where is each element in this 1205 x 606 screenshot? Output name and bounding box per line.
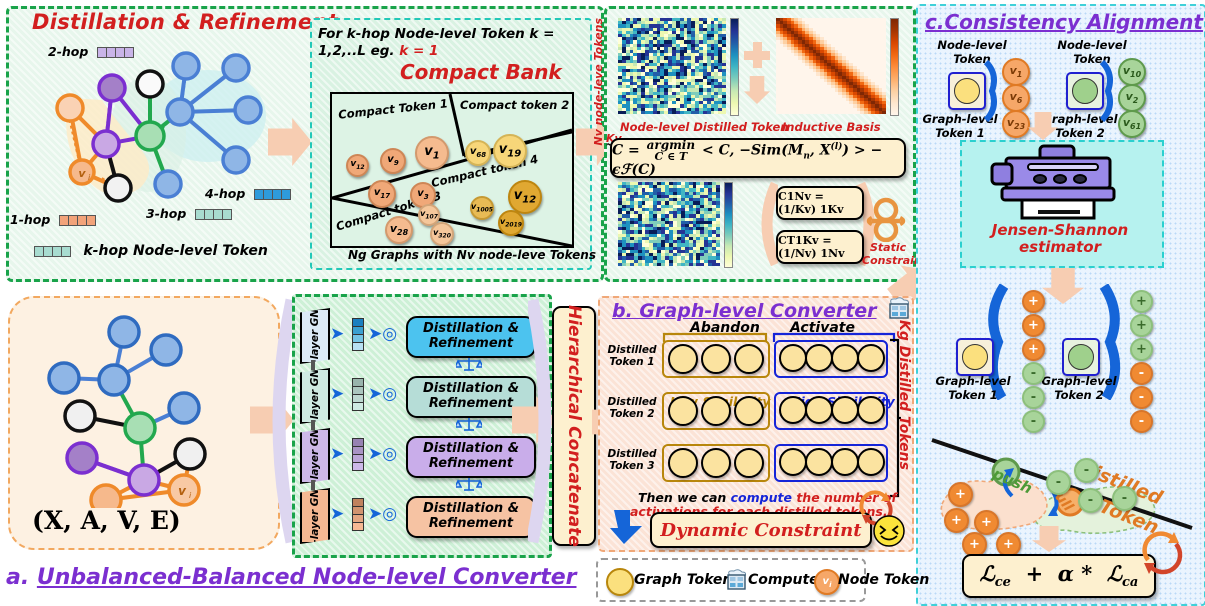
negative-sign-badge: - — [1022, 386, 1045, 409]
compact-bank-footer: Ng Graphs with Nv node-leve Tokens — [348, 248, 596, 262]
hop-label-2hop: 2-hop — [48, 44, 134, 59]
kg-distilled-tokens-label: Kg Distilled Tokens — [896, 320, 912, 470]
graph-level-token-2-chip — [1066, 72, 1104, 110]
consistency-node-token: v23 — [1002, 110, 1030, 138]
compact-token-node: v1 — [415, 136, 449, 170]
negative-sample-badge: - — [1078, 488, 1103, 513]
blue-arrow-icon: ➤ — [330, 506, 344, 523]
graph-token-2-circle-2 — [1068, 344, 1094, 370]
graph-level-token-2-label-2: Graph-levelToken 2 — [1034, 374, 1124, 402]
token-strip-legend — [34, 246, 71, 257]
arrow-to-dynamic-constraint — [608, 506, 648, 546]
consistency-node-token: v61 — [1118, 110, 1146, 138]
gnn-vertical-arrow — [311, 420, 315, 430]
main-objective-formula: ̃C = argmin C ∈ T < C, −Sim(Mn, X(l)) > … — [610, 138, 906, 178]
blue-arrow-target-icon: ➤◎ — [368, 506, 397, 523]
left-paren-decoration — [756, 182, 778, 266]
graph-token-circle — [701, 344, 731, 374]
negative-sample-badge: - — [1046, 470, 1071, 495]
dynamic-constraint-box: Dynamic Constraint — [650, 512, 872, 548]
graph-token-1-circle — [954, 78, 980, 104]
graph-token-circle — [857, 344, 885, 372]
legend-graph-token-icon — [606, 568, 634, 596]
clamp-knot-icon — [866, 196, 906, 242]
balance-scale-icon — [456, 476, 482, 492]
svg-text:v: v — [178, 484, 187, 498]
graph-token-circle — [668, 396, 698, 426]
graph-tuple-label: (X, A, V, E) — [32, 506, 181, 535]
graph-token-circle — [779, 448, 807, 476]
compact-token-node: v9 — [380, 148, 406, 174]
distillation-refinement-block[interactable]: Distillation &Refinement — [406, 436, 536, 478]
compact-bank-title: Compact Bank — [400, 60, 562, 84]
blue-arrow-target-icon: ➤◎ — [368, 386, 397, 403]
nv-tokens-vertical-label: Nv node-leve Tokens — [592, 18, 605, 146]
compact-token-node: v28 — [385, 216, 413, 244]
distilled-token-row-label: DistilledToken 3 — [604, 448, 660, 472]
consistency-node-token: v6 — [1002, 84, 1030, 112]
graph-token-circle — [734, 396, 764, 426]
positive-sign-badge: + — [1130, 338, 1153, 361]
balance-scale-icon — [456, 356, 482, 372]
dr-block-label: Distillation &Refinement — [423, 502, 519, 532]
positive-sign-badge: + — [1022, 290, 1045, 313]
graph-token-circle — [805, 396, 833, 424]
brace-left-1 — [984, 60, 1002, 122]
balance-scale-icon — [456, 416, 482, 432]
compact-region-2-label: Compact token 2 — [460, 98, 569, 112]
hop-token-strip — [352, 498, 364, 531]
colorbar-orange — [890, 18, 899, 116]
hierarchical-concatenate-label: Hierarchical Concatenate — [564, 305, 584, 547]
gnn-layer-block: 1-layer GNN — [300, 488, 330, 544]
graph-level-token-1-chip-2 — [956, 338, 994, 376]
positive-sign-badge: + — [1022, 338, 1045, 361]
blue-arrow-target-icon: ➤◎ — [368, 326, 397, 343]
distillation-title: Distillation & Refinement — [32, 10, 338, 34]
negative-sign-badge: - — [1130, 386, 1153, 409]
hop-token-strip — [352, 378, 364, 411]
graph-token-circle — [668, 448, 698, 478]
consistency-title: c.Consistency Alignment — [925, 10, 1203, 34]
compact-token-node: v12 — [346, 154, 369, 177]
graph-token-circle — [734, 344, 764, 374]
graph-token-circle — [668, 344, 698, 374]
loss-cycle-icon — [1140, 528, 1184, 576]
estimator-label: Jensen-Shannonestimator — [960, 222, 1160, 257]
gnn-vertical-arrow — [311, 360, 315, 370]
formula-content: ̃C = argmin C ∈ T < C, −Sim(Mn, X(l)) > … — [612, 139, 904, 178]
distilled-token-row-label: DistilledToken 1 — [604, 344, 660, 368]
graph-level-token-2-chip-2 — [1062, 338, 1100, 376]
graph-level-token-1-label-2: Graph-levelToken 1 — [928, 374, 1018, 402]
hop-token-strip — [352, 318, 364, 351]
caption-node-distilled-token: Node-level Distilled Token — [620, 120, 789, 134]
graph-level-title: b. Graph-level Converter — [612, 300, 877, 322]
gnn-layer-block: 4-layer GNN — [300, 308, 330, 364]
graph-token-circle — [831, 448, 859, 476]
compact-token-node: v19 — [493, 134, 527, 168]
compact-token-node: v17 — [368, 180, 396, 208]
static-constraint-formula-2: CT1Kv = (1/Nv) 1Nv — [776, 230, 864, 264]
legend-compute-icon — [724, 568, 748, 592]
node-level-token-label-right: Node-levelToken — [1052, 38, 1132, 66]
khop-legend: k-hop Node-level Token — [34, 243, 268, 259]
compact-bank-header-line2: 1,2,..L eg. k = 1 — [318, 43, 438, 59]
positive-sign-badge: + — [1022, 314, 1045, 337]
graph-token-circle — [701, 448, 731, 478]
colorbar-blue-1 — [730, 18, 739, 116]
consistency-node-token: v1 — [1002, 58, 1030, 86]
legend-compute-label: Compute — [748, 572, 819, 588]
legend-graph-token-label: Graph Token — [634, 572, 732, 588]
graph-token-circle — [805, 448, 833, 476]
positive-sample-badge: + — [944, 508, 969, 533]
graph-token-circle — [831, 344, 859, 372]
hop-label-4hop: 4-hop — [205, 186, 291, 201]
positive-sign-badge: + — [1130, 314, 1153, 337]
plus-operator-icon — [744, 42, 770, 68]
gnn-layer-block: 2-layer GNN — [300, 428, 330, 484]
hop-label-1hop: 1-hop — [10, 212, 96, 227]
compact-token-node: v12 — [508, 180, 542, 214]
loss-formula: ℒce + α * ℒca — [980, 561, 1139, 590]
blue-arrow-icon: ➤ — [330, 446, 344, 463]
distillation-refinement-block[interactable]: Distillation &Refinement — [406, 316, 536, 358]
negative-sign-badge: - — [1130, 362, 1153, 385]
input-graph-diagram: v i — [26, 308, 262, 508]
group-brackets — [662, 330, 902, 342]
graph-token-circle — [831, 396, 859, 424]
distillation-refinement-block[interactable]: Distillation &Refinement — [406, 496, 536, 538]
static-constraint-formula-1: C1Nv = (1/Kv) 1Kv — [776, 186, 864, 220]
hop-label-3hop: 3-hop — [146, 206, 232, 221]
token-strip-1hop — [59, 215, 96, 226]
legend-node-token-icon: vi — [814, 569, 840, 595]
token-strip-2hop — [97, 47, 134, 58]
colorbar-blue-2 — [724, 182, 733, 268]
legend-node-token-label: Node Token — [838, 572, 929, 588]
graph-token-2-circle — [1072, 78, 1098, 104]
graph-level-token-1-chip — [948, 72, 986, 110]
graph-token-circle — [734, 448, 764, 478]
graph-token-circle — [805, 344, 833, 372]
heatmap-node-distilled — [618, 18, 726, 114]
graph-token-circle — [779, 396, 807, 424]
compact-token-node: v68 — [465, 140, 491, 166]
blue-arrow-target-icon: ➤◎ — [368, 446, 397, 463]
legend-node-token-symbol: vi — [823, 576, 832, 589]
negative-sample-badge: - — [1112, 486, 1137, 511]
graph-token-circle — [779, 344, 807, 372]
compact-token-node: v320 — [430, 222, 454, 246]
caption-inductive-basis: Inductive Basis — [782, 120, 881, 134]
gnn-layer-label: 1-layer GNN — [309, 480, 321, 551]
graph-token-circle — [701, 396, 731, 426]
graph-token-circle — [857, 448, 885, 476]
negative-sample-badge: - — [1074, 458, 1099, 483]
positive-sign-badge: + — [1130, 290, 1153, 313]
loss-formula-box: ℒce + α * ℒca — [962, 554, 1156, 598]
distilled-token-row-label: DistilledToken 2 — [604, 396, 660, 420]
dr-block-label: Distillation &Refinement — [423, 442, 519, 472]
positive-sample-badge: + — [974, 510, 999, 535]
heatmap-inductive-basis — [776, 18, 886, 114]
gnn-layer-block: 3-layer GNN — [300, 368, 330, 424]
brace-left-2 — [1100, 60, 1118, 122]
graph-token-circle — [857, 396, 885, 424]
smiley-icon — [872, 514, 906, 548]
compact-bank-header-line1: For k-hop Node-level Token k = — [318, 26, 554, 42]
positive-sample-badge: + — [948, 482, 973, 507]
graph-token-1-circle-2 — [962, 344, 988, 370]
blue-arrow-icon: ➤ — [330, 386, 344, 403]
hop-token-strip — [352, 438, 364, 471]
panel-a-title: a. Unbalanced-Balanced Node-level Conver… — [6, 565, 577, 590]
token-strip-3hop — [195, 209, 232, 220]
static-constraint-label-1: Static — [870, 241, 906, 254]
svg-text:v: v — [78, 167, 86, 180]
blue-arrow-icon: ➤ — [330, 326, 344, 343]
dr-block-label: Distillation &Refinement — [423, 322, 519, 352]
compact-token-node: v2019 — [498, 210, 524, 236]
gnn-vertical-arrow — [311, 480, 315, 490]
consistency-node-token: v2 — [1118, 84, 1146, 112]
compact-token-node: v1005 — [470, 196, 494, 220]
consistency-node-token: v10 — [1118, 58, 1146, 86]
legend-box: Graph Token Compute vi Node Token — [596, 558, 866, 602]
dr-block-label: Distillation &Refinement — [423, 382, 519, 412]
heatmap-refined — [618, 182, 720, 266]
token-strip-4hop — [254, 189, 291, 200]
hierarchical-concatenate-box: Hierarchical Concatenate — [552, 306, 596, 546]
printer-icon — [988, 144, 1128, 222]
negative-sign-badge: - — [1022, 362, 1045, 385]
